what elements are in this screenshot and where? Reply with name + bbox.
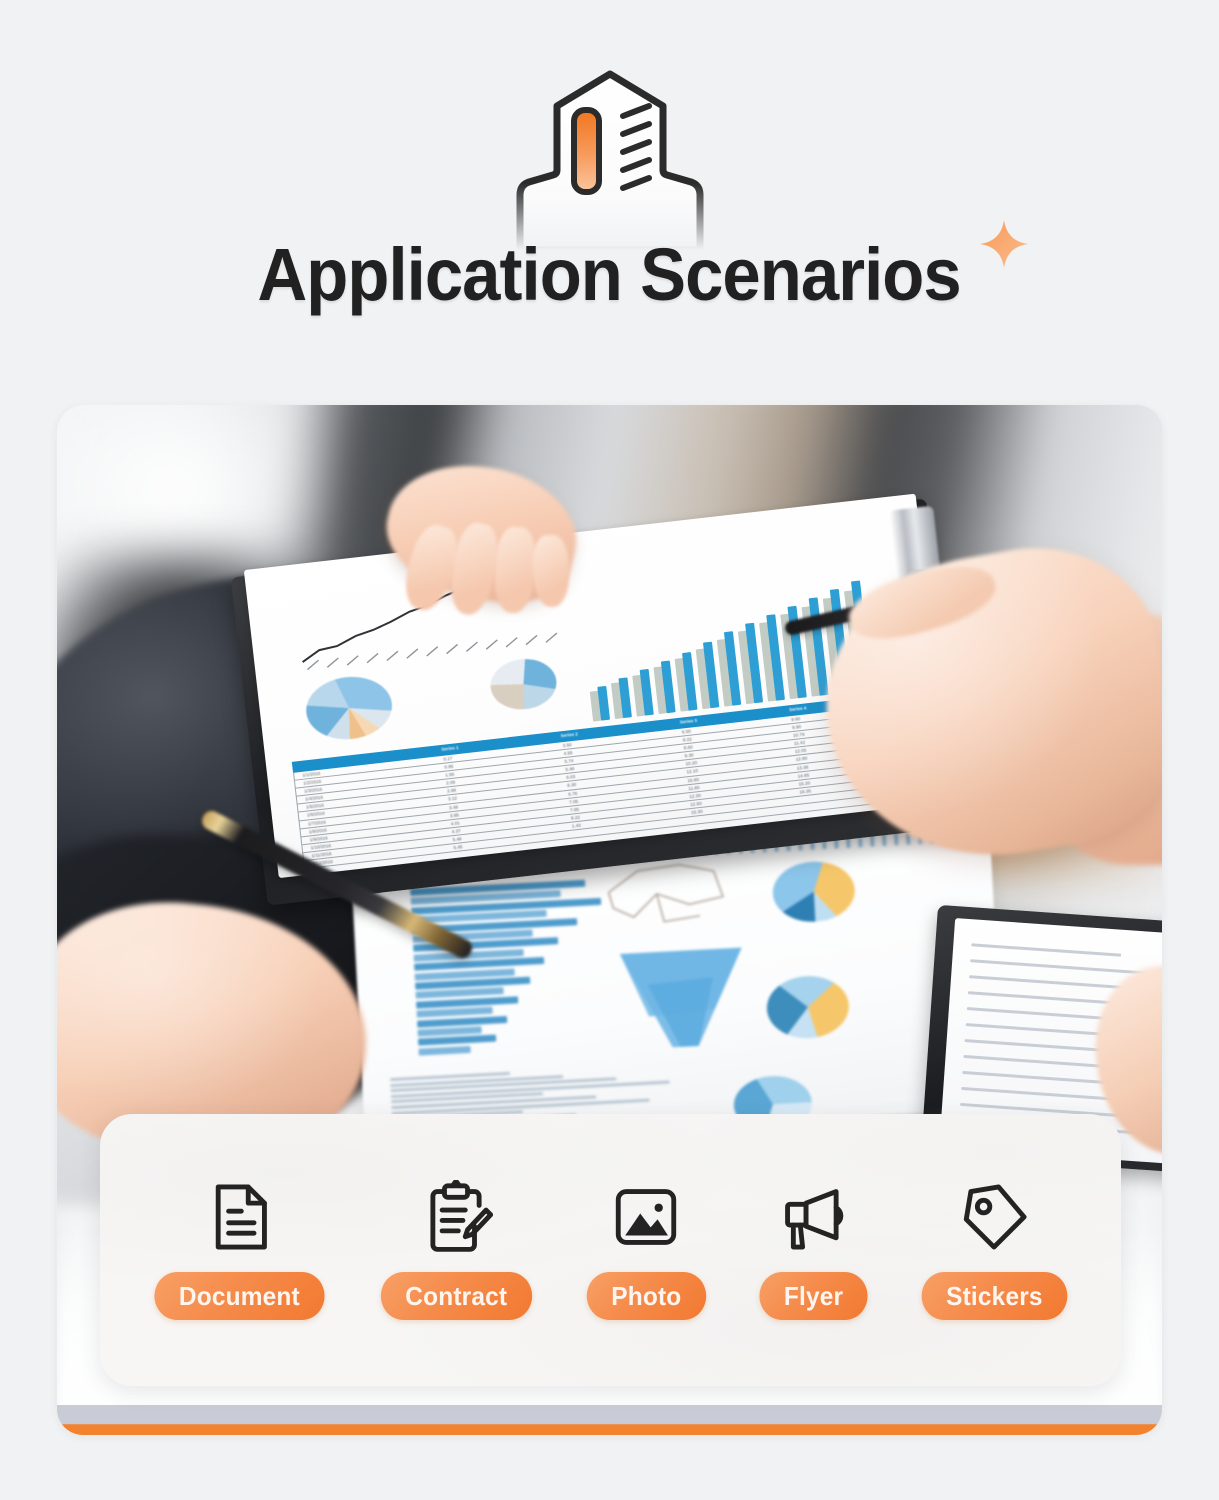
table-cell: 0.95 (444, 764, 453, 770)
table-cell: 1/7/2016 (308, 819, 326, 826)
table-cell: 10.79 (793, 732, 805, 738)
sheet-bar (417, 1007, 493, 1018)
megaphone-icon (776, 1180, 850, 1254)
table-cell: 12.60 (690, 801, 702, 807)
table-cell: 6.30 (567, 782, 576, 788)
table-cell: 1.56 (445, 772, 454, 778)
use-case-item-contract[interactable]: Contract (376, 1180, 537, 1320)
use-case-card: DocumentContractPhotoFlyerStickers (100, 1114, 1121, 1386)
table-cell: 1.43 (572, 823, 581, 829)
sheet-bar (418, 1035, 496, 1046)
table-cell: 12.80 (796, 756, 808, 762)
table-cell: 6.78 (568, 790, 577, 796)
sheet-bar (418, 1046, 470, 1056)
table-cell: 12.05 (795, 748, 807, 754)
table-cell: 1/5/2016 (306, 803, 324, 810)
table-cell: 9.60 (791, 716, 800, 722)
table-header-cell: Series 1 (441, 745, 459, 752)
page-title: Application Scenarios (258, 238, 961, 312)
sheet-tick (894, 832, 899, 845)
table-cell: 1/9/2016 (309, 835, 327, 842)
use-case-pill-contract[interactable]: Contract (381, 1272, 532, 1320)
report-pie-chart-1 (303, 672, 395, 743)
table-cell: 1/2/2016 (303, 779, 321, 786)
table-cell: 11.80 (688, 785, 700, 791)
table-header-cell: Series 2 (560, 731, 578, 738)
table-cell: 3.12 (448, 796, 457, 802)
second-clipboard-line (971, 943, 1121, 956)
table-cell: 12.10 (686, 768, 698, 774)
table-cell: 1/3/2016 (304, 787, 322, 794)
table-cell: 16.35 (799, 788, 811, 794)
table-cell: 7.05 (569, 798, 578, 804)
clipboard-pencil-icon (419, 1180, 493, 1254)
sheet-bar (417, 1016, 507, 1028)
use-case-pill-document[interactable]: Document (155, 1272, 325, 1320)
sheet-bar (416, 996, 518, 1008)
header-section: Application Scenarios (0, 0, 1219, 390)
sheet-tick (858, 838, 862, 847)
table-cell: 3.85 (450, 812, 459, 818)
sheet-pie-chart-1 (771, 860, 856, 924)
table-cell: 1/4/2016 (305, 795, 323, 802)
use-case-item-stickers[interactable]: Stickers (917, 1180, 1072, 1320)
table-cell: 8.60 (684, 745, 693, 751)
table-cell: 13.38 (796, 764, 808, 770)
table-cell: 10.20 (685, 760, 697, 766)
table-cell: 5.74 (564, 758, 573, 764)
use-case-pill-photo[interactable]: Photo (587, 1272, 706, 1320)
use-case-item-document[interactable]: Document (149, 1180, 330, 1320)
table-cell: 15.30 (691, 809, 703, 815)
table-cell: 3.50 (562, 742, 571, 748)
table-cell: 2.09 (446, 780, 455, 786)
image-icon (609, 1180, 683, 1254)
table-cell: 8.22 (571, 815, 580, 821)
sheet-horizontal-bar-chart (410, 878, 619, 1058)
table-cell: 1/11/2016 (311, 851, 332, 858)
table-header-cell: Series 3 (680, 718, 698, 725)
table-cell: 7.65 (570, 806, 579, 812)
table-cell: 5.46 (452, 836, 461, 842)
report-pie-chart-2 (488, 656, 559, 713)
use-case-pill-stickers[interactable]: Stickers (922, 1272, 1068, 1320)
table-cell: 15.20 (798, 780, 810, 786)
sheet-network-chart (601, 855, 744, 932)
table-cell: 4.37 (451, 828, 460, 834)
table-cell: 1/1/2016 (302, 771, 320, 778)
use-case-list: DocumentContractPhotoFlyerStickers (100, 1114, 1121, 1386)
table-cell: 2.88 (447, 788, 456, 794)
document-icon (202, 1180, 276, 1254)
use-case-item-photo[interactable]: Photo (583, 1180, 710, 1320)
table-cell: 5.46 (565, 766, 574, 772)
finger (532, 534, 570, 607)
page-title-row: Application Scenarios (0, 238, 1219, 312)
table-cell: 9.30 (684, 753, 693, 759)
table-cell: 15.80 (687, 777, 699, 783)
table-cell: 1/6/2016 (307, 811, 325, 818)
second-clipboard-line (970, 959, 1157, 975)
table-cell: 1/8/2016 (309, 827, 327, 834)
table-cell: 5.45 (453, 844, 462, 850)
table-header-cell: Series 4 (789, 705, 807, 712)
table-cell: 6.50 (682, 729, 691, 735)
table-cell: 12.30 (689, 793, 701, 799)
table-cell: 14.65 (797, 772, 809, 778)
sparkle-star-icon (976, 216, 1032, 272)
building-logo-icon (495, 62, 725, 252)
table-cell: 6.03 (566, 774, 575, 780)
table-cell: 3.49 (449, 804, 458, 810)
table-cell: 4.01 (451, 820, 460, 826)
sheet-pie-chart-2 (765, 974, 850, 1040)
table-cell: 8.22 (683, 737, 692, 743)
sheet-funnel-chart (615, 939, 751, 1056)
use-case-item-flyer[interactable]: Flyer (756, 1180, 871, 1320)
use-case-pill-flyer[interactable]: Flyer (759, 1272, 867, 1320)
table-cell: 11.42 (794, 740, 806, 746)
price-tag-icon (957, 1180, 1031, 1254)
photo-bottom-accent-bar (57, 1405, 1162, 1435)
table-cell: 0.17 (443, 756, 452, 762)
sheet-bar (418, 1026, 482, 1036)
table-cell: 1/10/2016 (310, 843, 331, 850)
table-cell: 4.55 (563, 750, 572, 756)
table-cell: 9.90 (792, 724, 801, 730)
